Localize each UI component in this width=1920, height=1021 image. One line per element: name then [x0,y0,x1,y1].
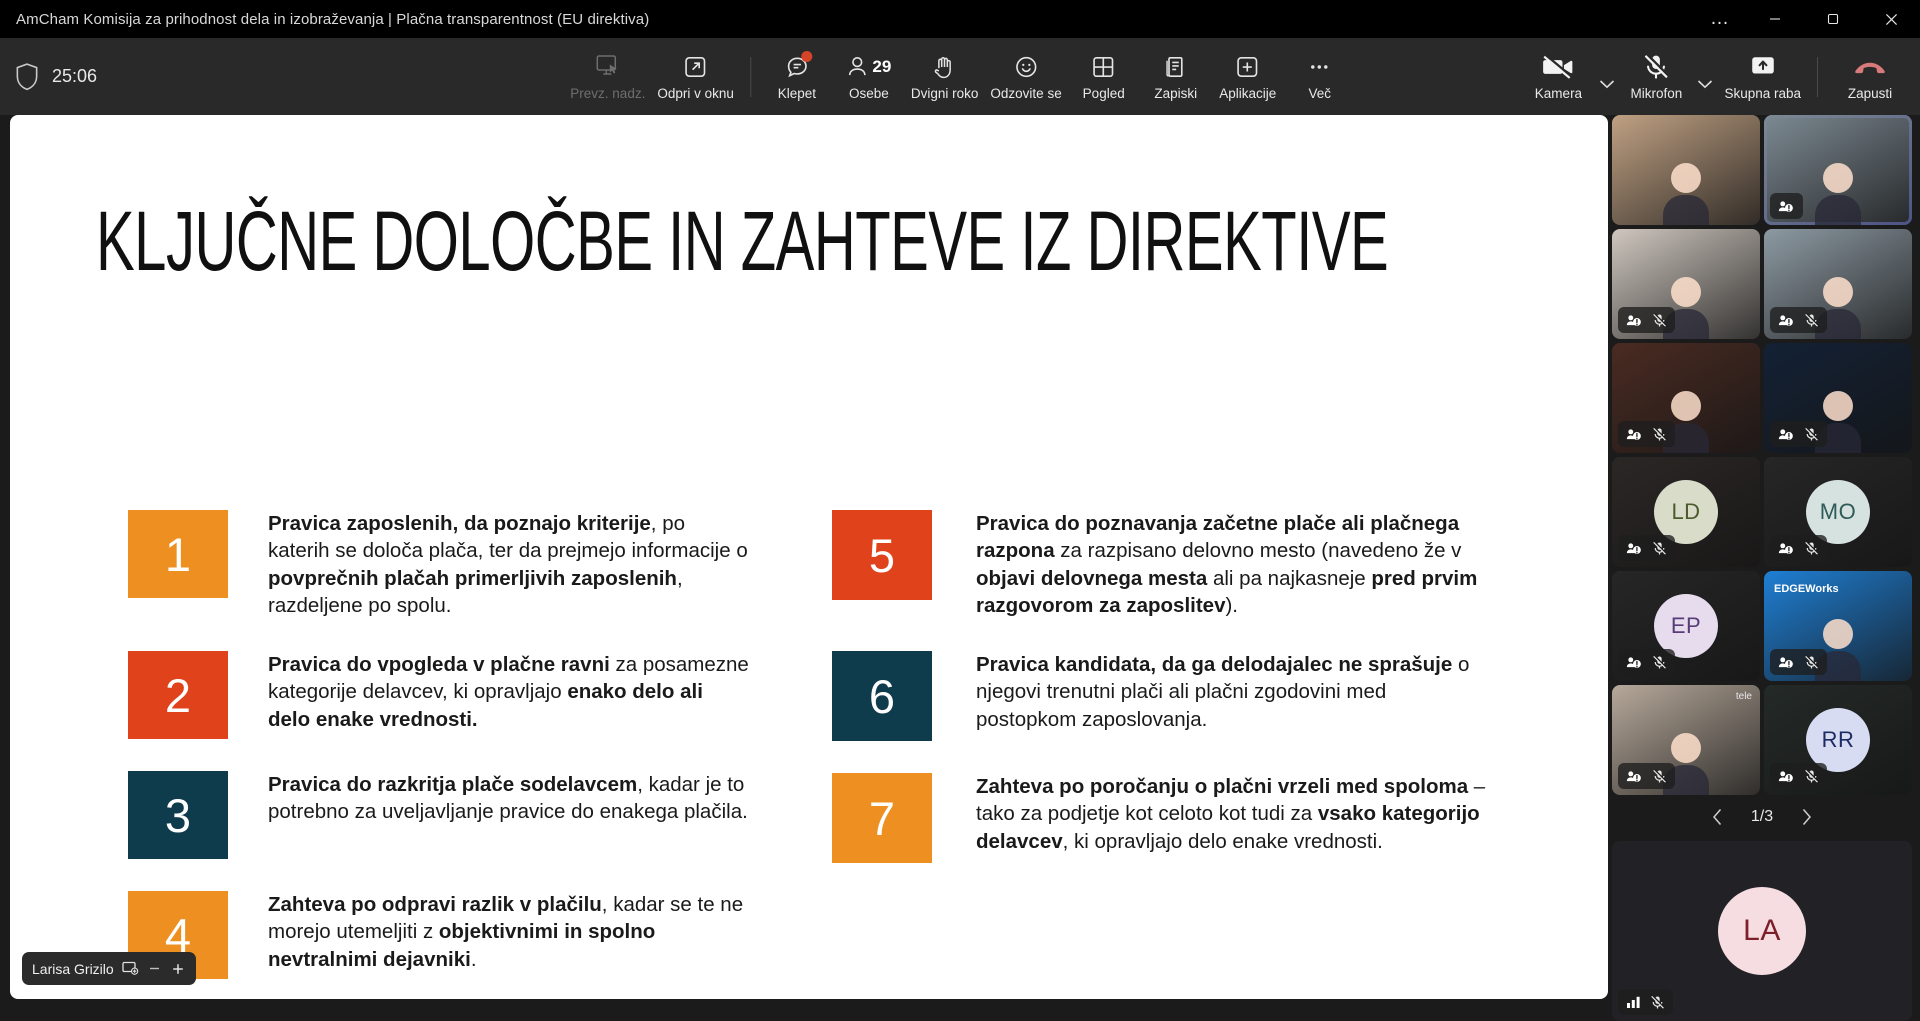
presenter-badge-icon [1778,769,1795,783]
open-in-window-button[interactable]: Odpri v oknu [651,44,740,110]
apps-plus-icon [1235,52,1261,82]
microphone-muted-icon [1650,995,1665,1010]
avatar: LA [1718,887,1806,975]
slide-title: KLJUČNE DOLOČBE IN ZAHTEVE IZ DIREKTIVE [96,193,1388,290]
camera-label: Kamera [1535,86,1582,101]
slide-item: 3Pravica do razkritja plače sodelavcem, … [128,771,750,859]
raise-hand-icon [933,52,957,82]
microphone-muted-icon [1652,769,1667,784]
leave-button[interactable]: Zapusti [1828,44,1912,110]
shared-slide[interactable]: KLJUČNE DOLOČBE IN ZAHTEVE IZ DIREKTIVE … [10,115,1608,999]
title-more-options-button[interactable]: … [1694,0,1746,38]
minimize-button[interactable] [1746,0,1804,38]
toolbar-center-group: Prevz. nadz. Odpri v oknu Klepet 29 Oseb… [564,38,1355,115]
tile-status-controls [1770,421,1827,447]
presenter-banner[interactable]: Larisa Grizilo [22,952,196,985]
slide-item-number: 7 [832,773,932,863]
slide-item-number: 2 [128,651,228,739]
presenter-badge-icon [1778,655,1795,669]
take-control-label: Prevz. nadz. [570,86,645,101]
hang-up-icon [1853,52,1887,82]
share-screen-icon [1749,52,1777,82]
window-title: AmCham Komisija za prihodnost dela in iz… [0,11,649,28]
react-label: Odzovite se [990,86,1061,101]
open-in-window-label: Odpri v oknu [657,86,734,101]
microphone-muted-icon [1652,313,1667,328]
chat-icon [784,52,810,82]
participant-tile[interactable]: MO [1764,457,1912,567]
participant-initials: RR [1822,727,1855,753]
microphone-muted-icon [1804,427,1819,442]
tile-status-controls [1770,307,1827,333]
maximize-button[interactable] [1804,0,1862,38]
slide-column-left: 1Pravica zaposlenih, da poznajo kriterij… [10,510,750,999]
notes-icon [1163,52,1189,82]
presenter-badge-icon [1778,199,1795,213]
tile-status-controls [1618,535,1675,561]
screen-share-icon [122,961,139,976]
microphone-options-chevron-down-icon[interactable] [1692,44,1718,110]
view-grid-icon [1091,52,1117,82]
meeting-timer: 25:06 [52,66,97,87]
chat-button[interactable]: Klepet [761,44,833,110]
slide-item-text: Pravica do razkritja plače sodelavcem, k… [228,771,750,859]
camera-options-chevron-down-icon[interactable] [1594,44,1620,110]
presenter-badge-icon [1626,655,1643,669]
slide-item-number: 6 [832,651,932,741]
meeting-toolbar: 25:06 Prevz. nadz. Odpri v oknu Klepet [0,38,1920,115]
tile-status-controls [1618,421,1675,447]
chevron-left-icon[interactable] [1707,806,1729,828]
slide-columns: 1Pravica zaposlenih, da poznajo kriterij… [10,510,1608,999]
participant-tile[interactable] [1612,343,1760,453]
tile-status-controls [1770,649,1827,675]
participant-filmstrip: LDMOEPEDGEWorksteleRR 1/3 LA [1612,115,1912,1014]
open-in-window-icon [683,52,709,82]
self-initials: LA [1743,914,1781,948]
slide-column-right: 5Pravica do poznavanja začetne plače ali… [750,510,1490,999]
microphone-muted-icon [1804,541,1819,556]
tile-overlay-text: EDGEWorks [1774,583,1839,595]
toolbar-divider-2 [1817,57,1818,97]
tile-status-controls [1618,649,1675,675]
share-screen-button[interactable]: Skupna raba [1718,44,1807,110]
slide-item: 5Pravica do poznavanja začetne plače ali… [832,510,1490,619]
participant-tile[interactable] [1764,115,1912,225]
participant-tile[interactable] [1612,229,1760,339]
slide-item: 7Zahteva po poročanju o plačni vrzeli me… [832,773,1490,863]
slide-item-text: Pravica do vpogleda v plačne ravni za po… [228,651,750,739]
chat-label: Klepet [778,86,816,101]
apps-label: Aplikacije [1219,86,1276,101]
slide-item: 1Pravica zaposlenih, da poznajo kriterij… [128,510,750,619]
toolbar-left-group: 25:06 [0,62,97,92]
microphone-button[interactable]: Mikrofon [1620,44,1692,110]
plus-icon[interactable] [170,962,186,976]
chevron-right-icon[interactable] [1795,806,1817,828]
slide-item: 2Pravica do vpogleda v plačne ravni za p… [128,651,750,739]
tile-corner-text: tele [1736,691,1752,702]
slide-item-text: Pravica zaposlenih, da poznajo kriterije… [228,510,750,619]
toolbar-divider-1 [750,57,751,97]
participant-tile[interactable]: EP [1612,571,1760,681]
participant-initials: MO [1820,499,1856,525]
minimize-icon[interactable] [147,962,162,975]
view-button[interactable]: Pogled [1068,44,1140,110]
take-control-button[interactable]: Prevz. nadz. [564,44,651,110]
slide-item-text: Zahteva po poročanju o plačni vrzeli med… [932,773,1490,863]
slide-item-text: Pravica do poznavanja začetne plače ali … [932,510,1490,619]
take-control-icon [594,52,622,82]
more-button[interactable]: Več [1284,44,1356,110]
participant-tile[interactable]: EDGEWorks [1764,571,1912,681]
shield-icon [14,62,40,92]
raise-hand-button[interactable]: Dvigni roko [905,44,985,110]
slide-item-number: 5 [832,510,932,600]
participant-tile[interactable]: tele [1612,685,1760,795]
tile-status-controls [1770,535,1827,561]
presenter-badge-icon [1778,541,1795,555]
people-icon: 29 [846,52,891,82]
presenter-badge-icon [1626,427,1643,441]
presenter-badge-icon [1778,313,1795,327]
microphone-muted-icon [1804,655,1819,670]
toolbar-right-group: Kamera Mikrofon Skupna raba Zapusti [1522,38,1912,115]
tile-status-controls [1770,193,1803,219]
presenter-badge-icon [1626,541,1643,555]
slide-item-number: 3 [128,771,228,859]
raise-hand-label: Dvigni roko [911,86,979,101]
camera-off-icon [1541,52,1575,82]
slide-item-text: Pravica kandidata, da ga delodajalec ne … [932,651,1490,741]
participant-tile[interactable] [1764,343,1912,453]
self-video-tile[interactable]: LA [1612,841,1912,1021]
presenter-badge-icon [1626,769,1643,783]
slide-item-text: Zahteva po odpravi razlik v plačilu, kad… [228,891,750,979]
microphone-muted-icon [1804,313,1819,328]
microphone-muted-icon [1652,655,1667,670]
presenter-name: Larisa Grizilo [32,961,114,977]
self-tile-controls [1618,989,1673,1015]
tile-status-controls [1618,763,1675,789]
slide-item-number: 1 [128,510,228,598]
microphone-muted-icon [1804,769,1819,784]
participant-grid: LDMOEPEDGEWorksteleRR [1612,115,1912,795]
apps-button[interactable]: Aplikacije [1212,44,1284,110]
slide-item: 4Zahteva po odpravi razlik v plačilu, ka… [128,891,750,979]
participant-video [1663,163,1709,225]
participant-tile[interactable] [1764,229,1912,339]
participant-initials: LD [1671,499,1700,525]
microphone-label: Mikrofon [1631,86,1683,101]
meeting-stage: KLJUČNE DOLOČBE IN ZAHTEVE IZ DIREKTIVE … [0,115,1920,1014]
more-label: Več [1308,86,1331,101]
microphone-off-icon [1641,52,1671,82]
audio-bars-icon [1626,995,1641,1009]
participant-video [1815,163,1861,225]
close-button[interactable] [1862,0,1920,38]
participant-tile[interactable] [1612,115,1760,225]
camera-button[interactable]: Kamera [1522,44,1594,110]
more-ellipsis-icon [1307,52,1333,82]
tile-status-controls [1618,307,1675,333]
tile-status-controls [1770,763,1827,789]
participant-tile[interactable]: RR [1764,685,1912,795]
presenter-badge-icon [1626,313,1643,327]
slide-item: 6Pravica kandidata, da ga delodajalec ne… [832,651,1490,741]
people-button[interactable]: 29 Osebe [833,44,905,110]
roster-page-indicator: 1/3 [1751,808,1773,826]
window-controls: … [1694,0,1920,38]
presenter-badge-icon [1778,427,1795,441]
participant-tile[interactable]: LD [1612,457,1760,567]
leave-label: Zapusti [1848,86,1892,101]
people-label: Osebe [849,86,889,101]
microphone-muted-icon [1652,541,1667,556]
microphone-muted-icon [1652,427,1667,442]
roster-pager: 1/3 [1612,795,1912,839]
react-button[interactable]: Odzovite se [984,44,1067,110]
notes-button[interactable]: Zapiski [1140,44,1212,110]
share-screen-label: Skupna raba [1724,86,1801,101]
participant-initials: EP [1671,613,1701,639]
notes-label: Zapiski [1154,86,1197,101]
react-smiley-icon [1013,52,1039,82]
view-label: Pogled [1083,86,1125,101]
title-bar: AmCham Komisija za prihodnost dela in iz… [0,0,1920,38]
chat-unread-badge [801,51,812,62]
people-count: 29 [872,57,891,77]
